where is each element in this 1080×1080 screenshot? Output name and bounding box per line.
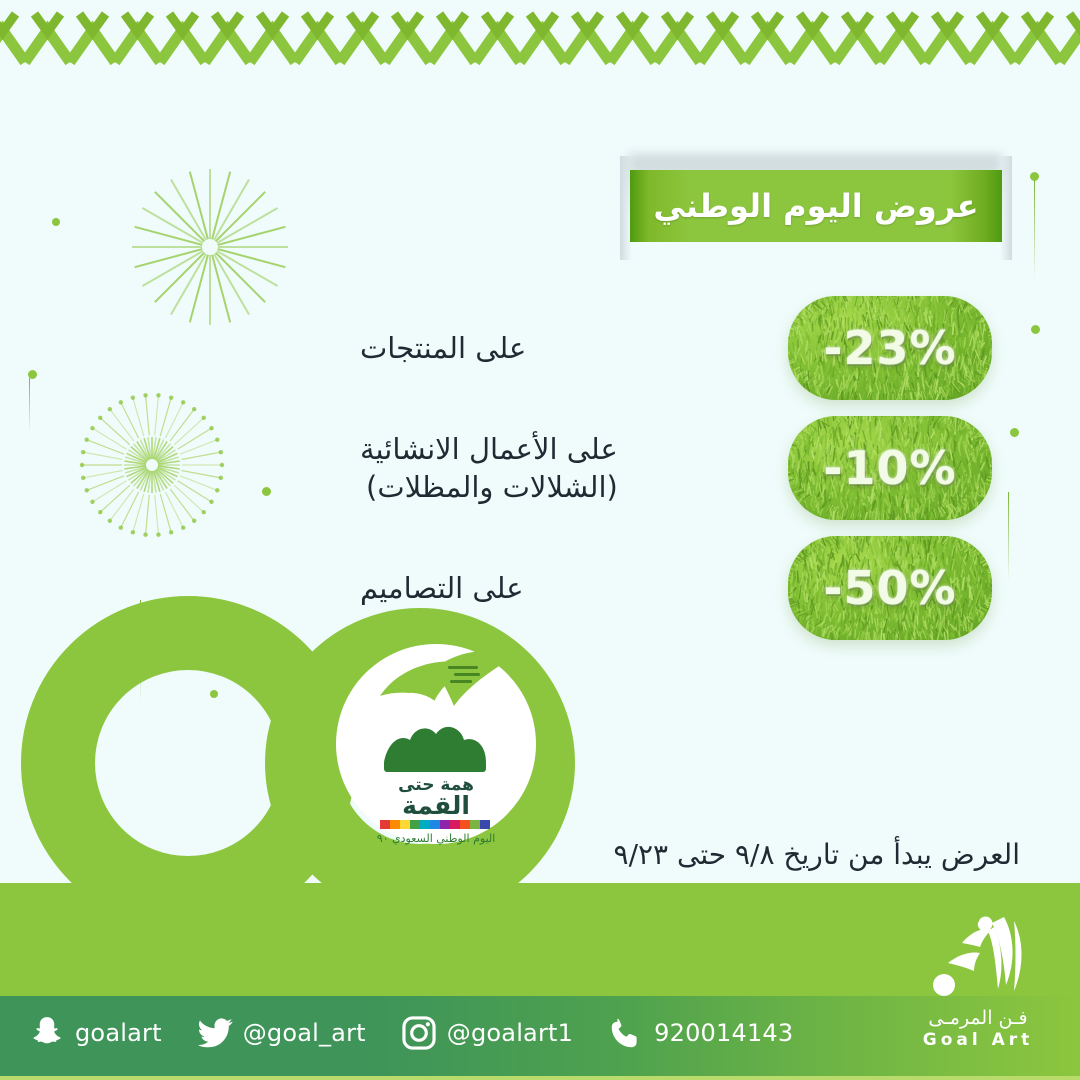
offer-validity-note: العرض يبدأ من تاريخ ٩/٨ حتى ٩/٢٣ <box>400 838 1020 871</box>
snapchat-icon <box>28 1014 66 1052</box>
banner-strip: عروض اليوم الوطني <box>630 170 1002 242</box>
banner-title: عروض اليوم الوطني <box>653 187 978 225</box>
goal-art-mark-icon <box>918 913 1038 1005</box>
firework-burst-dotted-icon <box>55 390 250 540</box>
contact-phone[interactable]: 920014143 <box>607 1014 793 1052</box>
discount-badge: -10% <box>788 416 992 520</box>
offer-label: على المنتجات <box>360 292 690 404</box>
poster-canvas: عروض اليوم الوطني على المنتجات -23% على … <box>0 0 1080 1080</box>
discount-value: -10% <box>823 441 956 495</box>
contact-number: 920014143 <box>654 1019 793 1047</box>
offer-row: على المنتجات -23% <box>420 292 1020 404</box>
social-handle: goalart <box>75 1019 162 1047</box>
national-day-banner: عروض اليوم الوطني <box>620 148 1010 268</box>
discount-value: -23% <box>823 321 956 375</box>
discount-value: -50% <box>823 561 956 615</box>
social-link-instagram[interactable]: @goalart1 <box>400 1014 573 1052</box>
instagram-icon <box>400 1014 438 1052</box>
discount-badge: -23% <box>788 296 992 400</box>
offer-label: على الأعمال الانشائية (الشلالات والمظلات… <box>360 412 690 524</box>
emblem-slogan-bottom: القمة <box>402 791 470 820</box>
social-link-snapchat[interactable]: goalart <box>28 1014 162 1052</box>
social-handle: @goal_art <box>243 1019 366 1047</box>
offer-row: على الأعمال الانشائية (الشلالات والمظلات… <box>420 412 1020 524</box>
social-link-twitter[interactable]: @goal_art <box>196 1014 366 1052</box>
twitter-icon <box>196 1014 234 1052</box>
decor-dot <box>52 218 60 226</box>
social-handle: @goalart1 <box>447 1019 573 1047</box>
footer-hairline <box>0 1076 1080 1080</box>
saudi-national-day-emblem: همة حتى القمة اليوم الوطني السعودي ٩٠ <box>322 630 550 858</box>
phone-icon <box>607 1014 645 1052</box>
brand-logo: فـن المرمـى Goal Art <box>893 913 1063 1063</box>
zigzag-border-icon <box>0 0 1080 72</box>
decor-line <box>29 378 30 433</box>
decor-dot <box>1031 325 1040 334</box>
emblem-color-bar <box>380 820 490 829</box>
brand-name-english: Goal Art <box>893 1030 1063 1050</box>
decor-line <box>1034 180 1035 280</box>
social-links-bar: goalart @goal_art @goalart1 920014143 <box>28 998 827 1068</box>
firework-burst-icon <box>120 165 300 330</box>
brand-name-arabic: فـن المرمـى <box>893 1007 1063 1029</box>
decor-dot <box>262 487 271 496</box>
discount-badge: -50% <box>788 536 992 640</box>
